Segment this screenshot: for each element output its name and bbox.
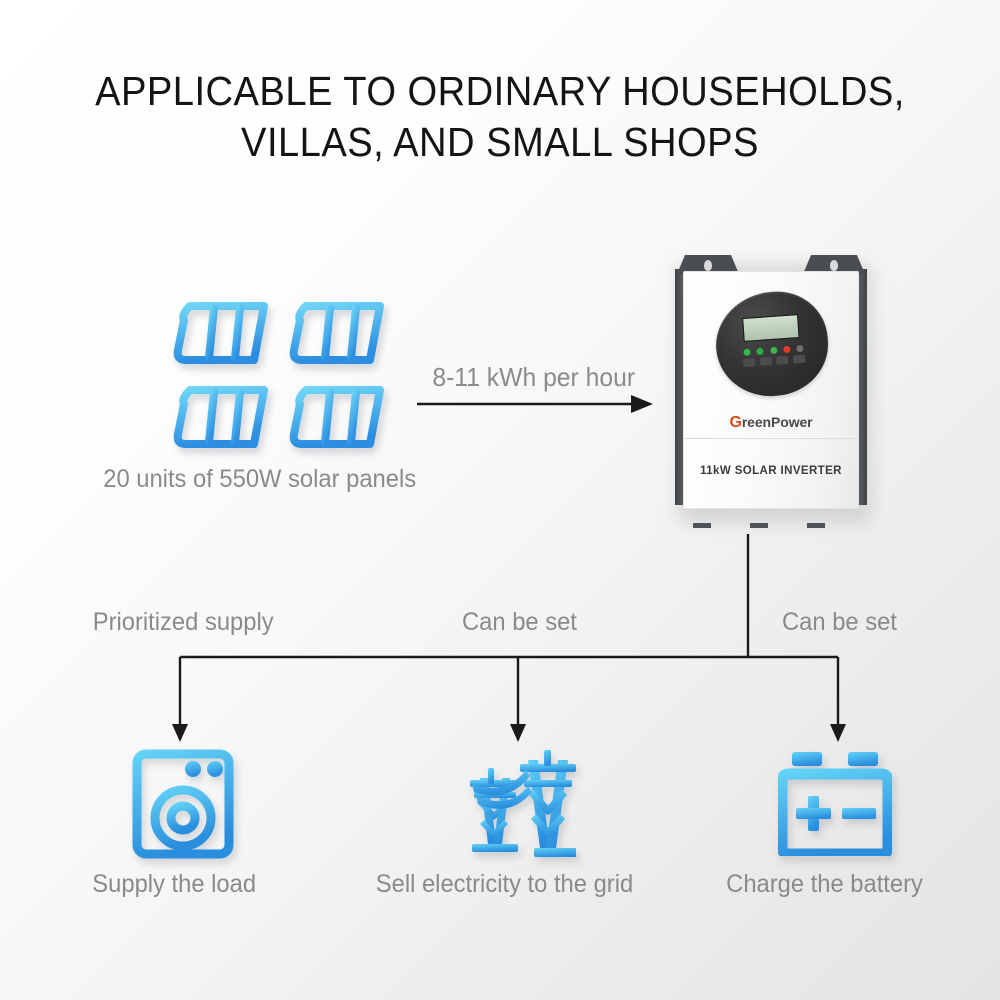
keypad-button[interactable] [776, 356, 789, 365]
led-green2-icon [756, 348, 763, 355]
branch-connector-tree [0, 520, 1000, 770]
inverter-body: GreenPower 11kW SOLAR INVERTER [683, 271, 859, 509]
infographic-canvas: APPLICABLE TO ORDINARY HOUSEHOLDS, VILLA… [0, 0, 1000, 1000]
led-green3-icon [770, 347, 777, 354]
led-red-icon [783, 346, 790, 353]
lcd-screen [742, 314, 800, 342]
right-arrow-icon [415, 388, 655, 420]
branch-condition-2: Can be set [782, 608, 897, 637]
led-green-icon [743, 349, 750, 356]
solar-panel-icon [168, 382, 274, 452]
plus-minus-symbols [796, 796, 876, 831]
page-title: APPLICABLE TO ORDINARY HOUSEHOLDS, VILLA… [35, 66, 965, 169]
solar-panel-icon [284, 382, 390, 452]
solar-panel-icon [168, 298, 274, 368]
keypad-button[interactable] [793, 355, 806, 364]
bracket-hole-icon [704, 260, 712, 271]
solar-panel-array-icon [168, 298, 398, 458]
solar-panel-icon [284, 298, 390, 368]
keypad-button[interactable] [760, 357, 773, 366]
brand-logo-initial: G [729, 414, 741, 431]
inverter-divider [684, 438, 858, 439]
arrowhead-icon [172, 724, 188, 742]
power-tower-icon [458, 748, 576, 858]
washing-machine-icon [131, 748, 235, 860]
branch-condition-0: Prioritized supply [93, 608, 274, 637]
led-gray-icon [796, 345, 803, 352]
branch-caption-1: Sell electricity to the grid [376, 870, 633, 899]
branch-condition-1: Can be set [462, 608, 577, 637]
arrowhead-icon [510, 724, 526, 742]
brand-logo-text: reenPower [742, 414, 813, 430]
solar-inverter-device: GreenPower 11kW SOLAR INVERTER [671, 255, 871, 523]
branch-caption-0: Supply the load [92, 870, 256, 899]
brand-logo: GreenPower [684, 414, 858, 432]
solar-array-caption: 20 units of 550W solar panels [103, 465, 416, 494]
branch-caption-2: Charge the battery [726, 870, 923, 899]
inverter-model-label: 11kW SOLAR INVERTER [684, 465, 858, 477]
control-panel-icon [713, 288, 832, 400]
keypad-button[interactable] [743, 358, 756, 367]
arrowhead-icon [830, 724, 846, 742]
keypad-row[interactable] [743, 355, 805, 368]
bracket-hole-icon [830, 260, 838, 271]
battery-icon [778, 752, 892, 856]
